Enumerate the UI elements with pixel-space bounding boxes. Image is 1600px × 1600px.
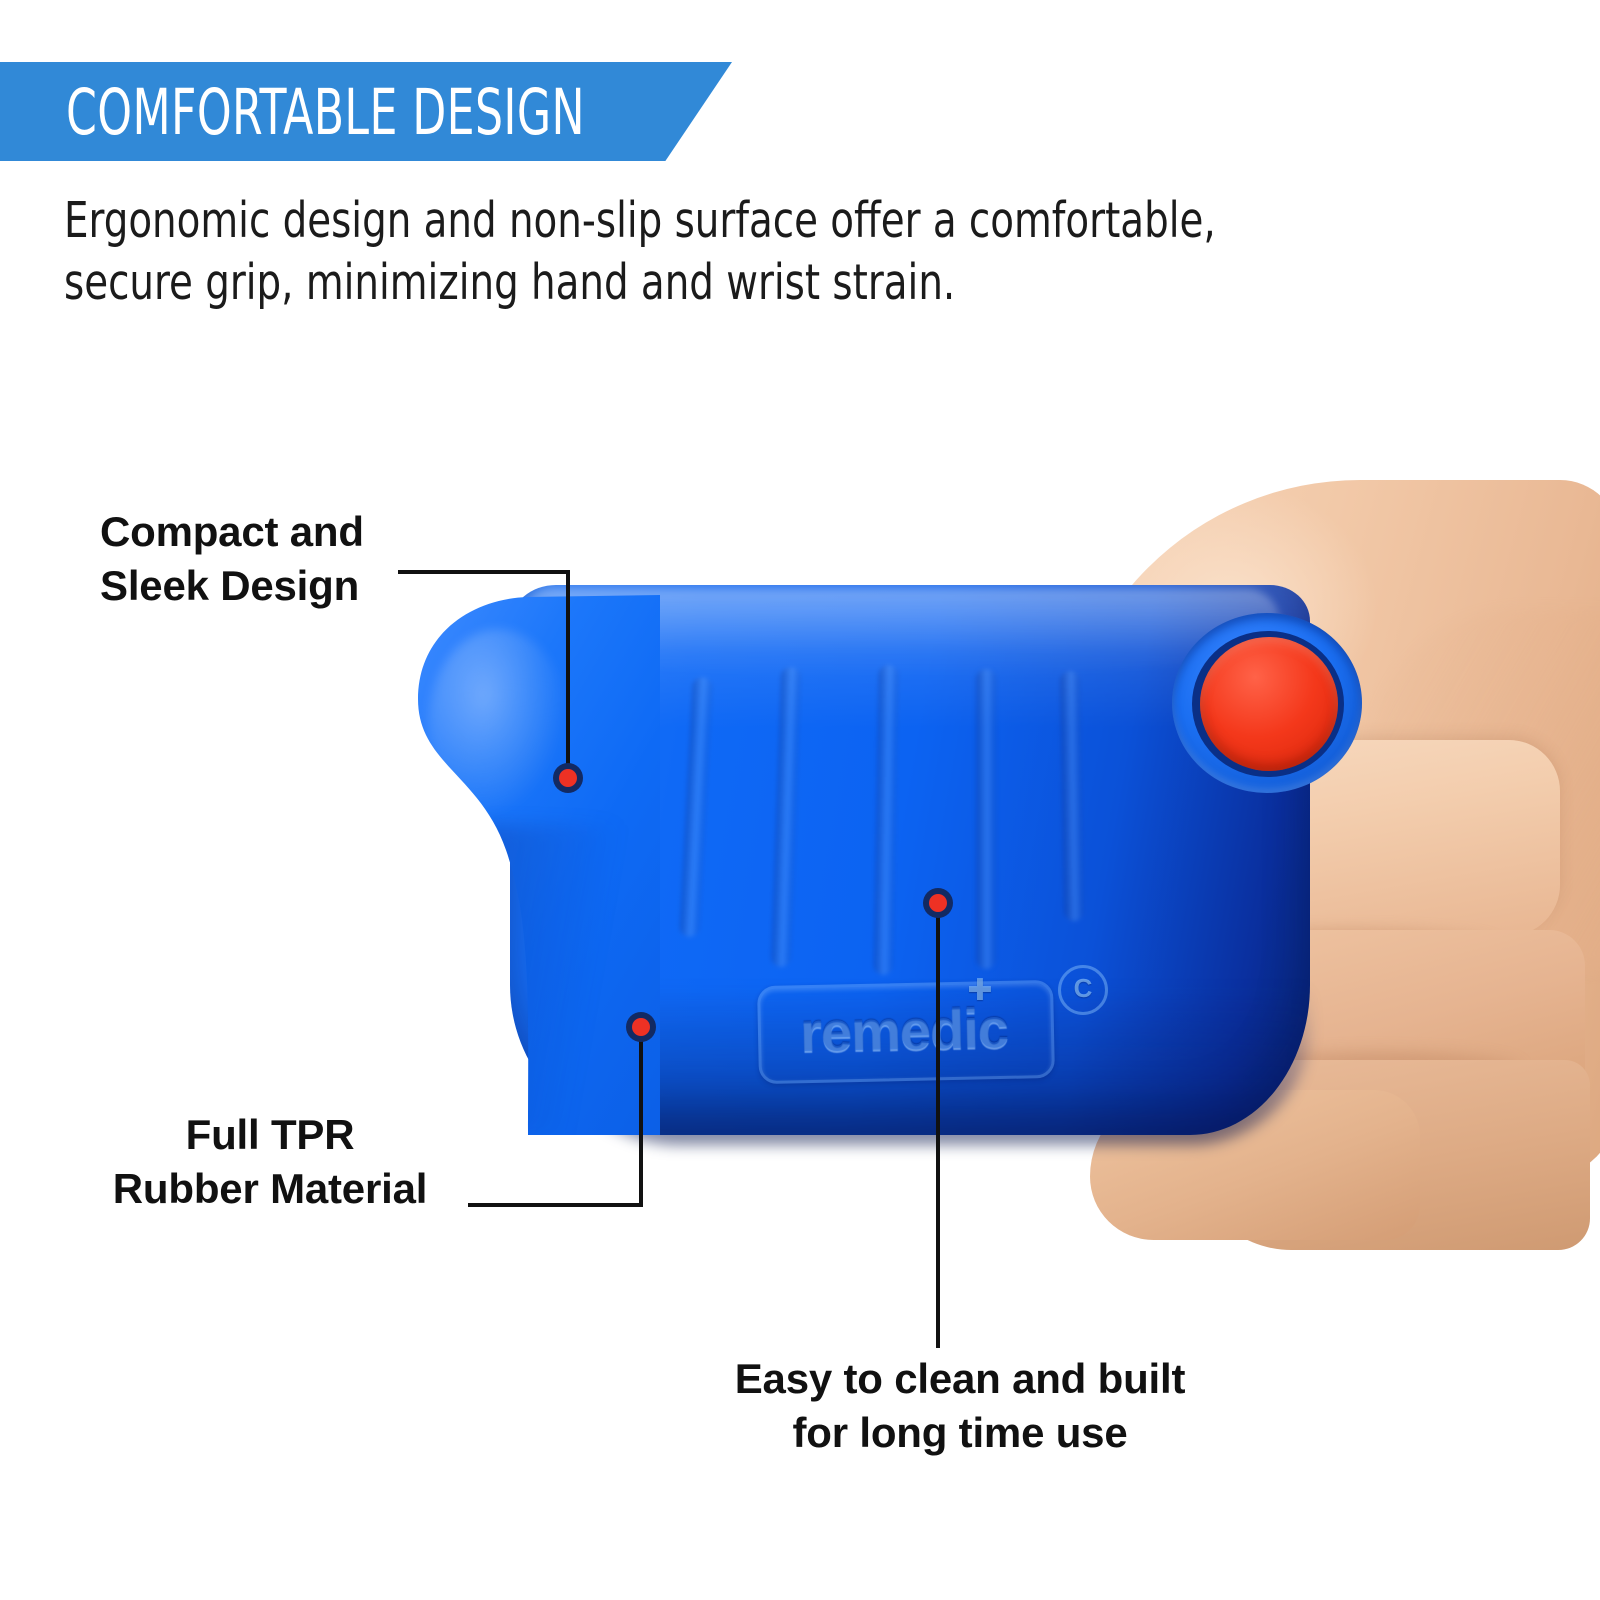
callout-clean-line-1: Easy to clean and built bbox=[660, 1352, 1260, 1406]
callout-tpr-line-1: Full TPR bbox=[60, 1108, 480, 1162]
subhead-line-2: secure grip, minimizing hand and wrist s… bbox=[64, 252, 1234, 314]
callout-compact-line-1: Compact and bbox=[100, 505, 364, 559]
callout-clean-line-2: for long time use bbox=[660, 1406, 1260, 1460]
fin-highlight bbox=[428, 629, 568, 819]
callout-compact-sleek-design: Compact and Sleek Design bbox=[100, 505, 364, 613]
red-action-button[interactable] bbox=[1200, 637, 1338, 771]
grip-groove bbox=[976, 669, 996, 969]
copyright-icon: C bbox=[1058, 965, 1108, 1015]
device-body: remedic ✚ C bbox=[410, 585, 1310, 1155]
callout-full-tpr-rubber-material: Full TPR Rubber Material bbox=[60, 1108, 480, 1216]
subhead-paragraph: Ergonomic design and non-slip surface of… bbox=[64, 190, 1234, 314]
subhead-line-1: Ergonomic design and non-slip surface of… bbox=[64, 190, 1234, 252]
callout-easy-to-clean: Easy to clean and built for long time us… bbox=[660, 1352, 1260, 1460]
device-ergonomic-fin bbox=[410, 595, 670, 1135]
medical-cross-icon: ✚ bbox=[966, 977, 994, 1005]
page-title: COMFORTABLE DESIGN bbox=[66, 60, 565, 164]
callout-compact-line-2: Sleek Design bbox=[100, 559, 364, 613]
callout-tpr-line-2: Rubber Material bbox=[60, 1162, 480, 1216]
fin-shadow bbox=[480, 825, 630, 1135]
